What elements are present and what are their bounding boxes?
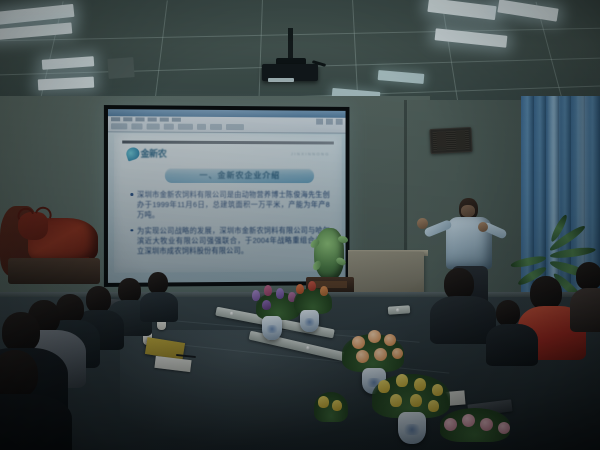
attendee-head bbox=[0, 350, 38, 398]
porcelain-vase bbox=[398, 412, 426, 444]
rose-blossom bbox=[480, 418, 493, 431]
presenter-face bbox=[461, 205, 475, 217]
rose-blossom bbox=[368, 330, 381, 343]
tulip-blossom bbox=[296, 284, 304, 294]
attendee-torso bbox=[486, 324, 538, 366]
rose-blossom bbox=[356, 350, 369, 363]
tulip-blossom bbox=[320, 286, 328, 296]
jade-plant-sculpture bbox=[314, 228, 344, 280]
screen-surface: 金新农 JINXINNONG 一、金新农企业介绍 深圳市金新农饲料有限公司是由动… bbox=[108, 109, 346, 283]
company-logo: 金新农 bbox=[126, 147, 189, 161]
porcelain-vase bbox=[300, 310, 319, 332]
rose-blossom bbox=[374, 348, 387, 361]
slide-title-text: 一、金新农企业介绍 bbox=[199, 170, 280, 181]
slide-title-banner: 一、金新农企业介绍 bbox=[165, 168, 314, 183]
slide-bullet-list: 深圳市金新农饲料有限公司是由动物营养博士陈俊海先生创办于1999年11月6日，总… bbox=[130, 190, 330, 262]
tulip-blossom bbox=[432, 384, 443, 396]
attendee-head bbox=[86, 286, 111, 313]
attendee-torso bbox=[570, 288, 600, 332]
attendee-head bbox=[496, 300, 520, 326]
sculpture-base bbox=[8, 258, 100, 284]
wall-speaker bbox=[429, 127, 472, 154]
attendee-torso bbox=[0, 394, 72, 450]
speaker-grille bbox=[433, 130, 470, 151]
browser-menu-bar[interactable] bbox=[111, 117, 181, 121]
rose-blossom bbox=[498, 422, 510, 434]
tulip-blossom bbox=[378, 380, 390, 393]
rose-blossom bbox=[352, 336, 365, 349]
porcelain-vase bbox=[262, 316, 282, 340]
conference-mic-panel[interactable] bbox=[388, 305, 411, 315]
rose-blossom bbox=[384, 334, 396, 346]
tulip-blossom bbox=[262, 300, 271, 310]
attendee-head bbox=[576, 262, 600, 290]
jade-sculpture-plaque bbox=[313, 281, 347, 288]
rose-blossom bbox=[444, 418, 457, 431]
attendee-head bbox=[148, 272, 168, 294]
tulip-blossom bbox=[276, 288, 284, 299]
slide-bullet: 深圳市金新农饲料有限公司是由动物营养博士陈俊海先生创办于1999年11月6日，总… bbox=[130, 190, 330, 221]
tulip-blossom bbox=[252, 290, 260, 301]
slide-bullet: 为实现公司战略的发展，深圳市金新农饲料有限公司与哈尔滨近大牧业有限公司强强联合，… bbox=[130, 225, 330, 256]
presentation-browser-window[interactable] bbox=[108, 109, 346, 134]
browser-toolbar[interactable] bbox=[111, 123, 244, 130]
rose-blossom bbox=[462, 414, 475, 427]
bullet-dot-icon bbox=[130, 193, 133, 196]
attendee-head bbox=[2, 312, 40, 352]
tulip-blossom bbox=[264, 285, 272, 296]
tulip-blossom bbox=[308, 281, 316, 291]
slide-bullet-text: 为实现公司战略的发展，深圳市金新农饲料有限公司与哈尔滨近大牧业有限公司强强联合，… bbox=[137, 225, 330, 256]
logo-swoosh-icon bbox=[125, 146, 141, 162]
projector-mount-rod bbox=[288, 28, 293, 62]
logo-subtext: JINXINNONG bbox=[291, 151, 330, 156]
tulip-blossom bbox=[428, 400, 439, 412]
browser-window-controls[interactable] bbox=[316, 119, 342, 125]
projection-screen: 金新农 JINXINNONG 一、金新农企业介绍 深圳市金新农饲料有限公司是由动… bbox=[104, 105, 350, 287]
attendee-head bbox=[530, 276, 562, 310]
rose-blossom bbox=[392, 348, 403, 359]
slide-header-rule bbox=[122, 140, 334, 144]
logo-text: 金新农 bbox=[140, 149, 166, 158]
tulip-blossom bbox=[410, 394, 422, 407]
tulip-blossom bbox=[396, 374, 408, 387]
presentation-slide: 金新农 JINXINNONG 一、金新农企业介绍 深圳市金新农饲料有限公司是由动… bbox=[114, 133, 342, 272]
tulip-blossom bbox=[318, 396, 329, 408]
tulip-blossom bbox=[414, 378, 426, 391]
attendee-torso bbox=[140, 292, 178, 322]
meeting-room-photo: 金新农 JINXINNONG 一、金新农企业介绍 深圳市金新农饲料有限公司是由动… bbox=[0, 0, 600, 450]
ceiling-vent bbox=[107, 57, 134, 79]
projector-lens bbox=[268, 78, 294, 82]
presenter-hand-left bbox=[417, 218, 428, 229]
presenter-hand-right bbox=[478, 222, 488, 232]
tulip-blossom bbox=[332, 400, 342, 411]
bullet-dot-icon bbox=[130, 229, 133, 232]
slide-bullet-text: 深圳市金新农饲料有限公司是由动物营养博士陈俊海先生创办于1999年11月6日，总… bbox=[137, 190, 330, 221]
tulip-blossom bbox=[390, 394, 402, 407]
